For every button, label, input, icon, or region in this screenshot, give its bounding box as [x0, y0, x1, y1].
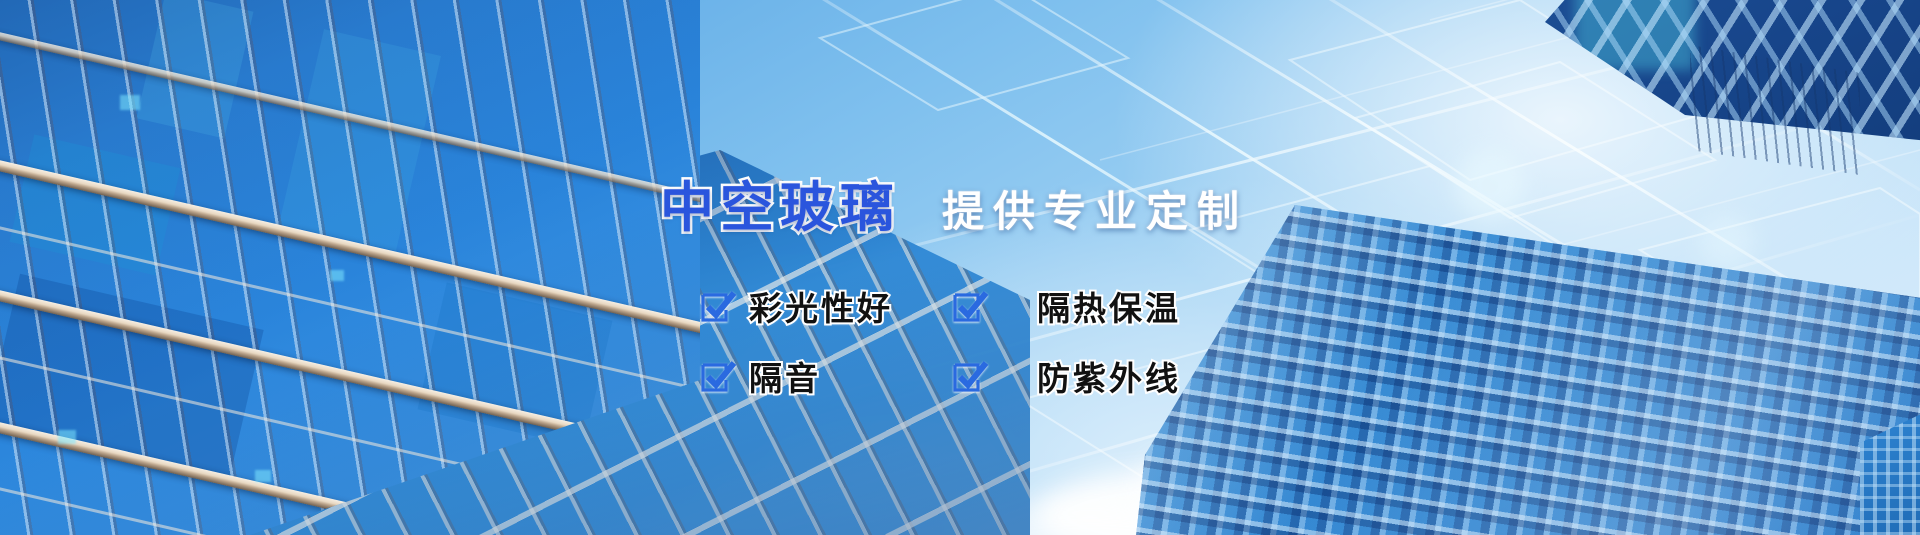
- feature-item: 隔音: [700, 352, 938, 400]
- feature-list: 彩光性好 隔热保温: [700, 282, 1181, 422]
- feature-item: 防紫外线: [952, 352, 1181, 400]
- feature-row: 彩光性好 隔热保温: [700, 282, 1181, 330]
- feature-row: 隔音 防紫外线: [700, 352, 1181, 400]
- checkbox-check-icon: [952, 359, 988, 393]
- feature-item: 隔热保温: [952, 282, 1181, 330]
- feature-label: 彩光性好: [749, 282, 893, 330]
- feature-label: 防紫外线: [1037, 352, 1181, 400]
- page-title: 中空玻璃: [660, 163, 900, 242]
- feature-label: 隔热保温: [1037, 282, 1181, 330]
- feature-item: 彩光性好: [700, 282, 938, 330]
- hero-banner: 中空玻璃 提供专业定制 彩光性好: [0, 0, 1920, 535]
- headline-group: 中空玻璃 提供专业定制: [660, 163, 1248, 242]
- banner-content: 中空玻璃 提供专业定制 彩光性好: [0, 0, 1920, 535]
- feature-label: 隔音: [749, 352, 821, 400]
- page-subtitle: 提供专业定制: [942, 178, 1248, 239]
- checkbox-check-icon: [952, 289, 988, 323]
- checkbox-check-icon: [700, 289, 736, 323]
- checkbox-check-icon: [700, 359, 736, 393]
